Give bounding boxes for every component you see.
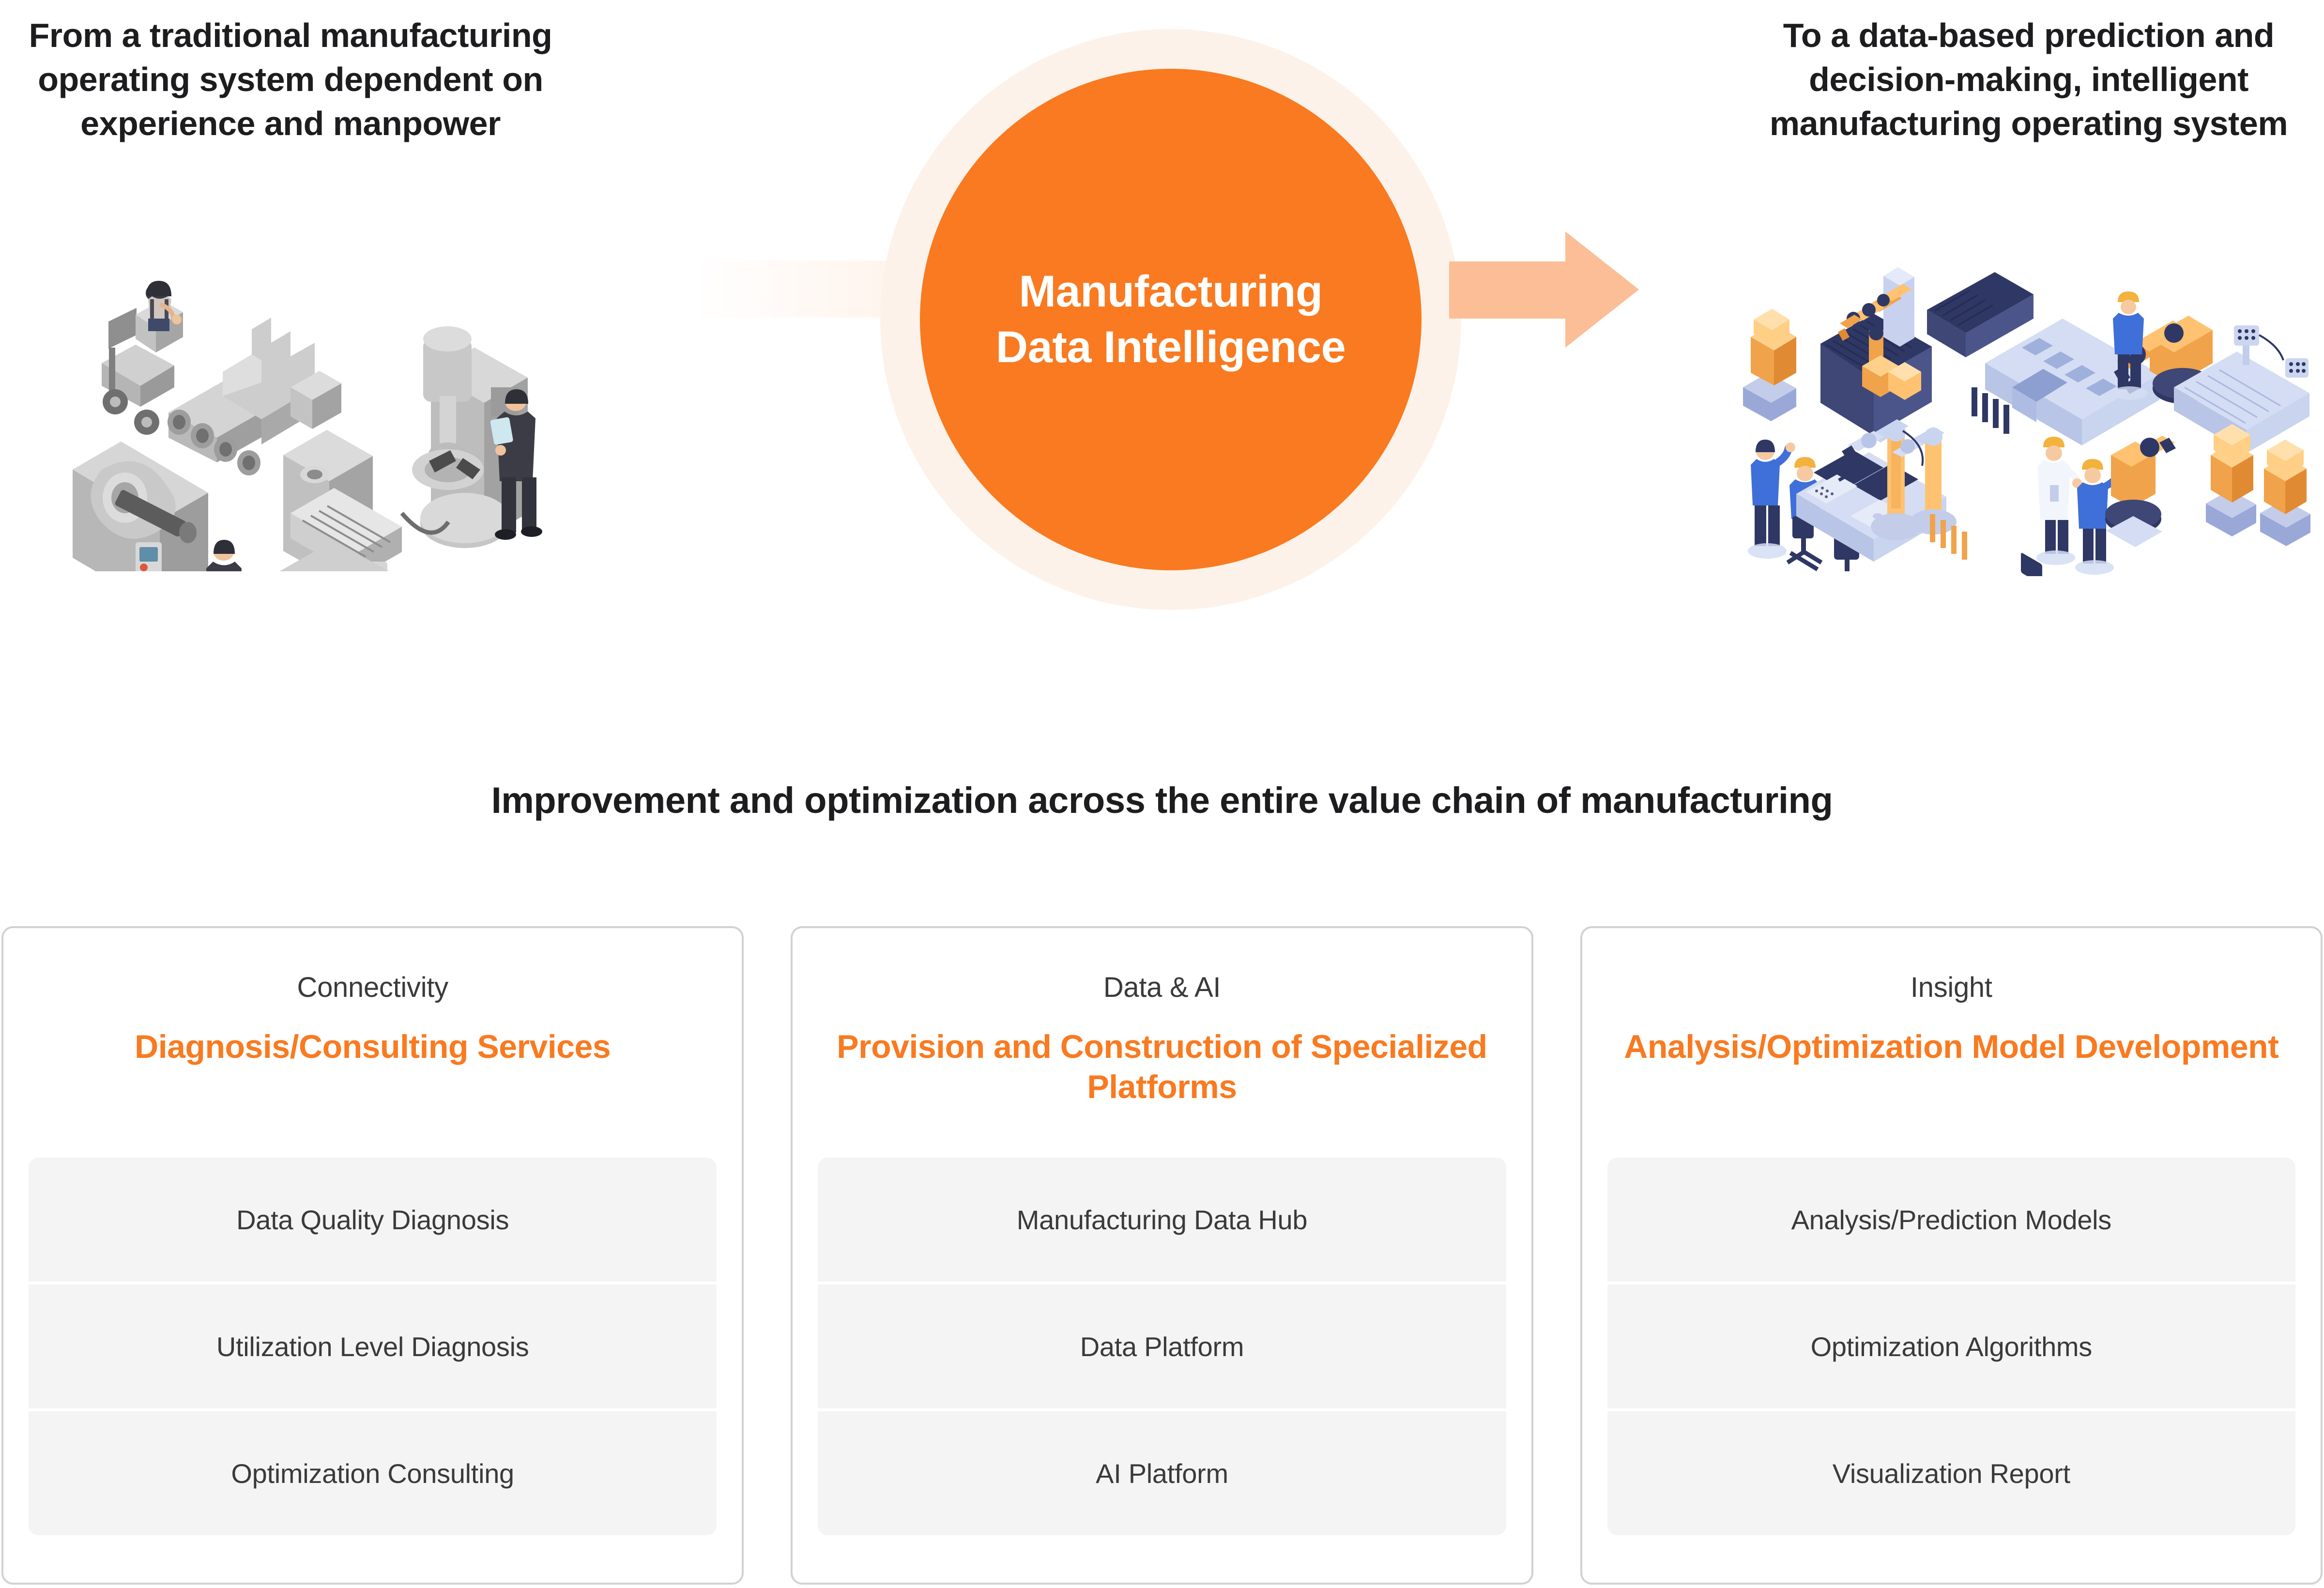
list-item[interactable]: Data Quality Diagnosis bbox=[29, 1158, 717, 1282]
card-heading: Analysis/Optimization Model Development bbox=[1624, 1027, 2278, 1067]
card-eyebrow: Insight bbox=[1911, 971, 1992, 1005]
list-item[interactable]: Optimization Algorithms bbox=[1607, 1284, 2295, 1408]
manufacturing-data-intelligence-circle: Manufacturing Data Intelligence bbox=[920, 69, 1422, 570]
card-list: Data Quality Diagnosis Utilization Level… bbox=[29, 1158, 717, 1535]
card-connectivity[interactable]: Connectivity Diagnosis/Consulting Servic… bbox=[1, 926, 744, 1585]
circle-title-line-2: Data Intelligence bbox=[996, 320, 1346, 375]
circle-title-line-1: Manufacturing bbox=[1019, 264, 1322, 320]
section-title: Improvement and optimization across the … bbox=[0, 779, 2324, 822]
list-item[interactable]: Manufacturing Data Hub bbox=[818, 1158, 1506, 1282]
list-item[interactable]: AI Platform bbox=[818, 1411, 1506, 1535]
card-data-and-ai[interactable]: Data & AI Provision and Construction of … bbox=[791, 926, 1533, 1585]
card-heading: Provision and Construction of Specialize… bbox=[806, 1027, 1517, 1107]
arrow-right-head bbox=[1565, 231, 1639, 348]
list-item[interactable]: Visualization Report bbox=[1607, 1411, 2295, 1535]
hero-section: From a traditional manufacturing operati… bbox=[0, 0, 2324, 678]
list-item[interactable]: Utilization Level Diagnosis bbox=[29, 1284, 717, 1408]
right-caption: To a data-based prediction and decision-… bbox=[1733, 14, 2324, 146]
arrow-right-icon bbox=[1449, 231, 1638, 348]
list-item[interactable]: Analysis/Prediction Models bbox=[1607, 1158, 2295, 1282]
card-list: Manufacturing Data Hub Data Platform AI … bbox=[818, 1158, 1506, 1535]
value-chain-cards: Connectivity Diagnosis/Consulting Servic… bbox=[1, 926, 2323, 1585]
card-eyebrow: Data & AI bbox=[1103, 971, 1221, 1005]
card-eyebrow: Connectivity bbox=[297, 971, 448, 1005]
left-caption: From a traditional manufacturing operati… bbox=[0, 14, 581, 146]
smart-factory-illustration bbox=[1724, 242, 2319, 576]
arrow-right-shaft bbox=[1449, 261, 1568, 319]
traditional-factory-illustration bbox=[63, 242, 576, 571]
card-insight[interactable]: Insight Analysis/Optimization Model Deve… bbox=[1580, 926, 2323, 1585]
list-item[interactable]: Data Platform bbox=[818, 1284, 1506, 1408]
card-list: Analysis/Prediction Models Optimization … bbox=[1607, 1158, 2295, 1535]
list-item[interactable]: Optimization Consulting bbox=[29, 1411, 717, 1535]
infographic-root: From a traditional manufacturing operati… bbox=[0, 0, 2324, 1588]
card-heading: Diagnosis/Consulting Services bbox=[135, 1027, 611, 1067]
